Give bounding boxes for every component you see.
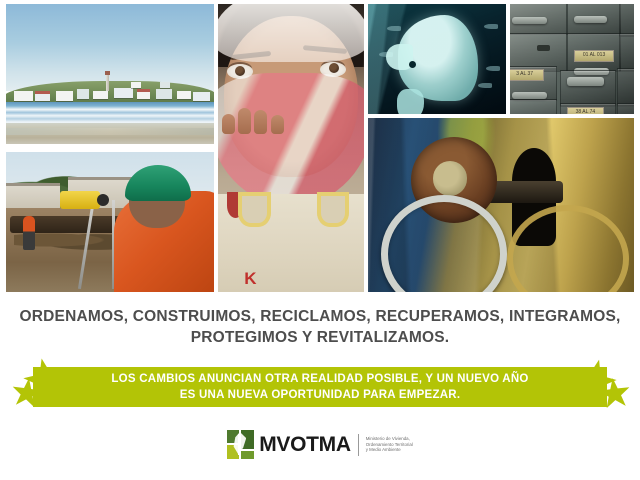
mvotma-wordmark: MVOTMA bbox=[259, 433, 351, 457]
plastic-bag-underwater-photo bbox=[368, 4, 506, 114]
child-fingers bbox=[221, 88, 288, 134]
beach-sky bbox=[6, 4, 214, 91]
mvotma-logo: MVOTMA Ministerio de Vivienda, Ordenamie… bbox=[0, 430, 640, 459]
mvotma-tagline: Ministerio de Vivienda, Ordenamiento Ter… bbox=[366, 436, 413, 453]
banner-line-2: ES UNA NUEVA OPORTUNIDAD PARA EMPEZAR. bbox=[180, 387, 461, 403]
child-shirt: K bbox=[218, 194, 364, 292]
coastal-town-beach-photo bbox=[6, 4, 214, 144]
beach-surf bbox=[6, 102, 214, 124]
banner-line-1: LOS CAMBIOS ANUNCIAN OTRA REALIDAD POSIB… bbox=[111, 371, 528, 387]
drawer-label: 3 AL 37 bbox=[510, 69, 544, 81]
logo-divider bbox=[358, 434, 359, 456]
headline-line-2: PROTEGIMOS Y REVITALIZAMOS. bbox=[0, 327, 640, 348]
key-shaft bbox=[485, 181, 563, 203]
child-plastic-bag-photo: K bbox=[218, 4, 364, 292]
beach-sand bbox=[6, 123, 214, 144]
shirt-logo-text: K bbox=[244, 269, 257, 289]
plastic-bag-top bbox=[218, 4, 364, 62]
mvotma-logo-mark-icon bbox=[227, 430, 254, 459]
banner-text: LOS CAMBIOS ANUNCIAN OTRA REALIDAD POSIB… bbox=[33, 367, 607, 407]
key-in-lock-macro-photo bbox=[368, 118, 634, 292]
photo-mosaic: K 01 AL 013 bbox=[0, 0, 640, 296]
lighthouse-icon bbox=[106, 74, 109, 91]
headline-line-1: ORDENAMOS, CONSTRUIMOS, RECICLAMOS, RECU… bbox=[19, 308, 620, 325]
drawer-label: 01 AL 013 bbox=[574, 50, 613, 62]
survey-level-instrument bbox=[60, 191, 100, 209]
floating-plastic-bag bbox=[398, 15, 478, 101]
construction-surveyor-photo bbox=[6, 152, 214, 292]
shirt-strap-right bbox=[317, 192, 349, 227]
green-banner: LOS CAMBIOS ANUNCIAN OTRA REALIDAD POSIB… bbox=[0, 358, 640, 416]
poster: K 01 AL 013 bbox=[0, 0, 640, 480]
shirt-strap-left bbox=[238, 192, 270, 227]
headline: ORDENAMOS, CONSTRUIMOS, RECICLAMOS, RECU… bbox=[0, 306, 640, 348]
filing-cabinet-archive-photo: 01 AL 013 3 AL 37 38 AL 74 bbox=[510, 4, 634, 114]
drawer-label: 38 AL 74 bbox=[567, 107, 604, 114]
